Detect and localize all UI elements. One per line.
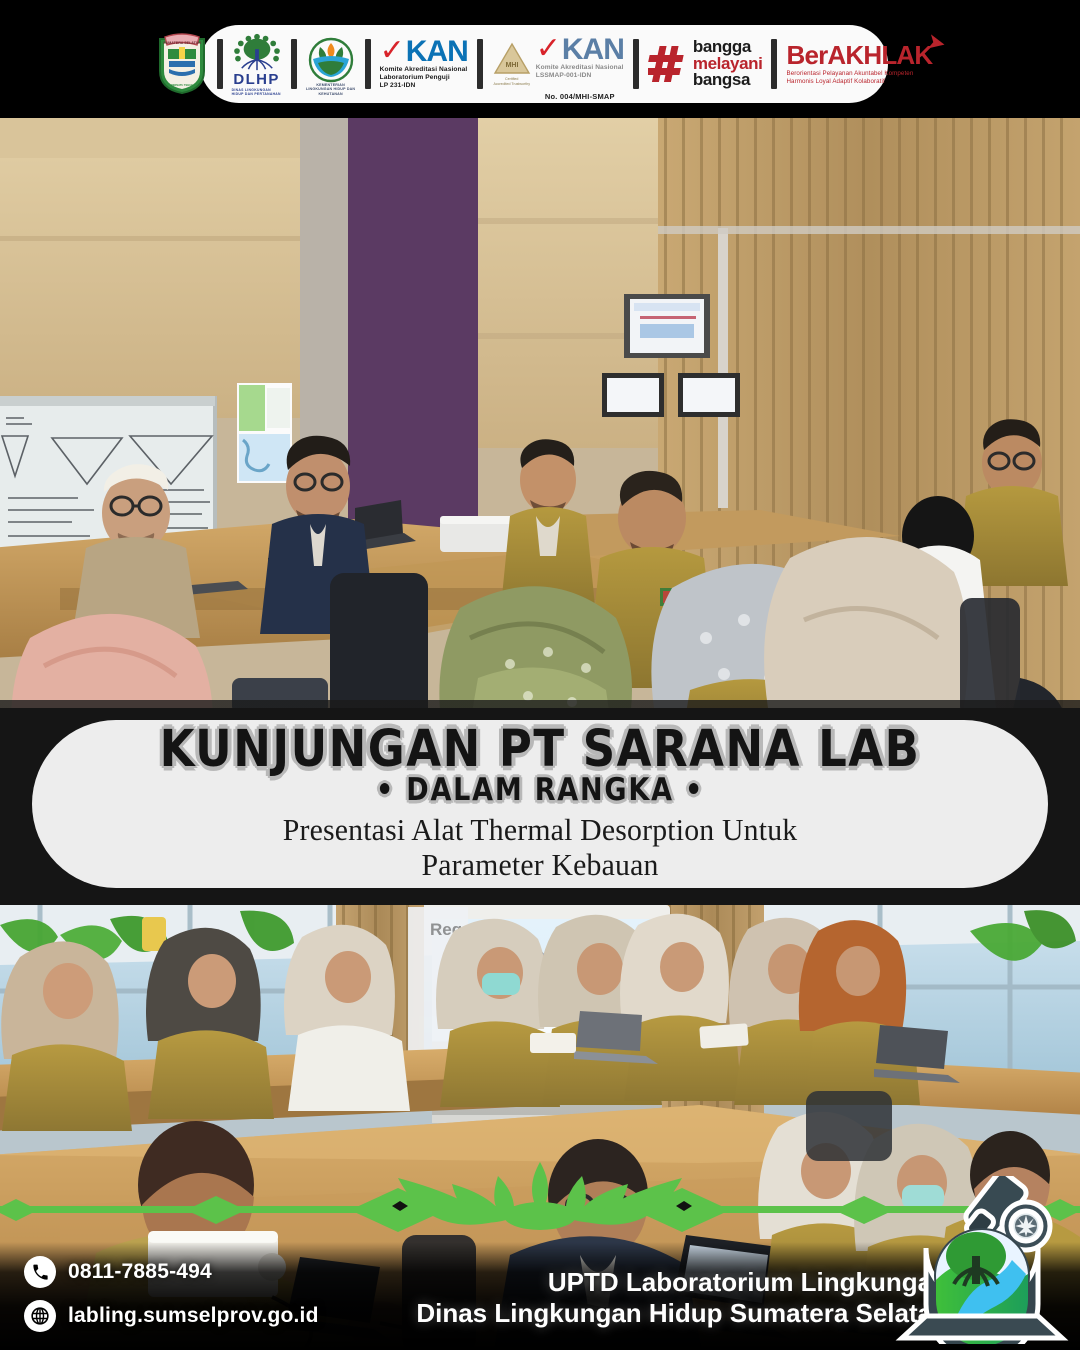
berakhlak-subtitle: Berorientasi Pelayanan Akuntabel Kompete… [786, 70, 932, 87]
lingkungan-subtitle: KEMENTERIAN LINGKUNGAN HIDUP DAN KEHUTAN… [306, 83, 356, 96]
title-description: Presentasi Alat Thermal Desorption Untuk… [283, 813, 798, 882]
kan-lp-logo: ✓ KAN Komite Akreditasi Nasional Laborat… [374, 31, 474, 97]
berakhlak-sub1: Berorientasi Pelayanan Akuntabel Kompete… [786, 70, 932, 78]
dlhp-tree-icon [229, 32, 285, 72]
logo-divider [771, 39, 777, 89]
contact-block: 0811-7885-494 labling.sumselprov.go.id [24, 1256, 319, 1332]
logo-divider [633, 39, 639, 89]
lingkungan-circle-icon [304, 37, 358, 83]
kan-check-icon: ✓ [380, 39, 405, 63]
dlhp-subtitle: DINAS LINGKUNGAN HIDUP DAN PERTANAHAN [232, 88, 282, 96]
berakhlak-sub2: Harmonis Loyal Adaptif Kolaboratif [786, 78, 932, 86]
poster-root: Regulasi Reg [0, 0, 1080, 1350]
header-bar: SUMATERA SELATAN BERSATU TEGUH [0, 0, 1080, 118]
phone-row[interactable]: 0811-7885-494 [24, 1256, 319, 1288]
dlhp-wordmark: DLHP [233, 72, 279, 87]
mhi-triangle-icon: MHI CertifiedAccredited Trustworthy [492, 42, 532, 86]
globe-icon [24, 1300, 56, 1332]
kan-smap-line2: LSSMAP-001-IDN [536, 72, 624, 80]
bmb-line3: bangsa [693, 72, 763, 89]
dlhp-logo: DLHP DINAS LINGKUNGAN HIDUP DAN PERTANAH… [226, 32, 288, 96]
person-hijab-front-4 [764, 537, 968, 708]
svg-text:BERSATU TEGUH: BERSATU TEGUH [171, 83, 193, 87]
kan-wordmark: KAN [562, 36, 624, 63]
kan-lp-line2: Laboratorium Penguji [380, 74, 468, 82]
proper-lingkungan-logo: KEMENTERIAN LINGKUNGAN HIDUP DAN KEHUTAN… [300, 32, 362, 96]
mhi-triangle-glyph: MHI [493, 42, 531, 76]
kan-wordmark: KAN [406, 38, 468, 65]
berakhlak-wordmark: BerAKHLAK ➤ [786, 42, 932, 68]
title-subheading: • DALAM RANGKA • [376, 775, 704, 806]
logo-divider [217, 39, 223, 89]
svg-text:SUMATERA SELATAN: SUMATERA SELATAN [163, 41, 201, 45]
kan-check-icon: ✓ [536, 37, 561, 61]
website-url: labling.sumselprov.go.id [68, 1304, 319, 1328]
photo-top-illustration [0, 118, 1080, 708]
smap-certificate-number: No. 004/MHI-SMAP [545, 92, 615, 101]
kan-smap-mark: ✓ KAN [536, 36, 624, 63]
globe-glyph [30, 1306, 50, 1326]
accreditation-logo-strip: SUMATERA SELATAN BERSATU TEGUH [200, 25, 888, 103]
kan-lp-line1: Komite Akreditasi Nasional [380, 66, 468, 74]
title-description-line2: Parameter Kebauan [283, 848, 798, 883]
sumatera-selatan-emblem: SUMATERA SELATAN BERSATU TEGUH [150, 31, 214, 97]
microscope-logo-svg [892, 1176, 1072, 1344]
kan-smap-logo: MHI CertifiedAccredited Trustworthy ✓ KA… [486, 31, 630, 97]
kan-smap-caption: Komite Akreditasi Nasional LSSMAP-001-ID… [536, 64, 624, 80]
title-description-line1: Presentasi Alat Thermal Desorption Untuk [283, 813, 798, 848]
kan-mark: ✓ KAN [380, 38, 468, 65]
bmb-hash-icon [648, 44, 688, 84]
website-row[interactable]: labling.sumselprov.go.id [24, 1300, 319, 1332]
logo-divider [291, 39, 297, 89]
organization-block: UPTD Laboratorium Lingkungan Dinas Lingk… [416, 1267, 948, 1330]
wall-calendar [237, 383, 292, 483]
logo-divider [365, 39, 371, 89]
phone-icon [24, 1256, 56, 1288]
organization-line2: Dinas Lingkungan Hidup Sumatera Selatan [416, 1298, 948, 1330]
mhi-caption: CertifiedAccredited Trustworthy [493, 77, 530, 86]
kan-lp-caption: Komite Akreditasi Nasional Laboratorium … [380, 66, 468, 91]
title-band: KUNJUNGAN PT SARANA LAB • DALAM RANGKA •… [0, 700, 1080, 905]
berakhlak-tick-icon: ➤ [927, 31, 947, 54]
microscope-environment-logo [892, 1176, 1072, 1344]
sumatera-selatan-shield-icon: SUMATERA SELATAN BERSATU TEGUH [156, 33, 208, 95]
meeting-room-photo-top [0, 118, 1080, 708]
berakhlak-logo: BerAKHLAK ➤ Berorientasi Pelayanan Akunt… [780, 31, 938, 97]
phone-number: 0811-7885-494 [68, 1260, 212, 1284]
page-title: KUNJUNGAN PT SARANA LAB [160, 723, 921, 773]
berakhlak-text: BerAKHLAK [786, 40, 932, 70]
phone-glyph [31, 1263, 50, 1282]
kan-smap-line1: Komite Akreditasi Nasional [536, 64, 624, 72]
kan-lp-line3: LP 231-IDN [380, 82, 468, 90]
logo-divider [477, 39, 483, 89]
bangga-melayani-bangsa-logo: bangga melayani bangsa [642, 31, 769, 97]
organization-line1: UPTD Laboratorium Lingkungan [416, 1267, 948, 1299]
svg-text:MHI: MHI [505, 62, 518, 69]
title-pill: KUNJUNGAN PT SARANA LAB • DALAM RANGKA •… [32, 720, 1048, 888]
